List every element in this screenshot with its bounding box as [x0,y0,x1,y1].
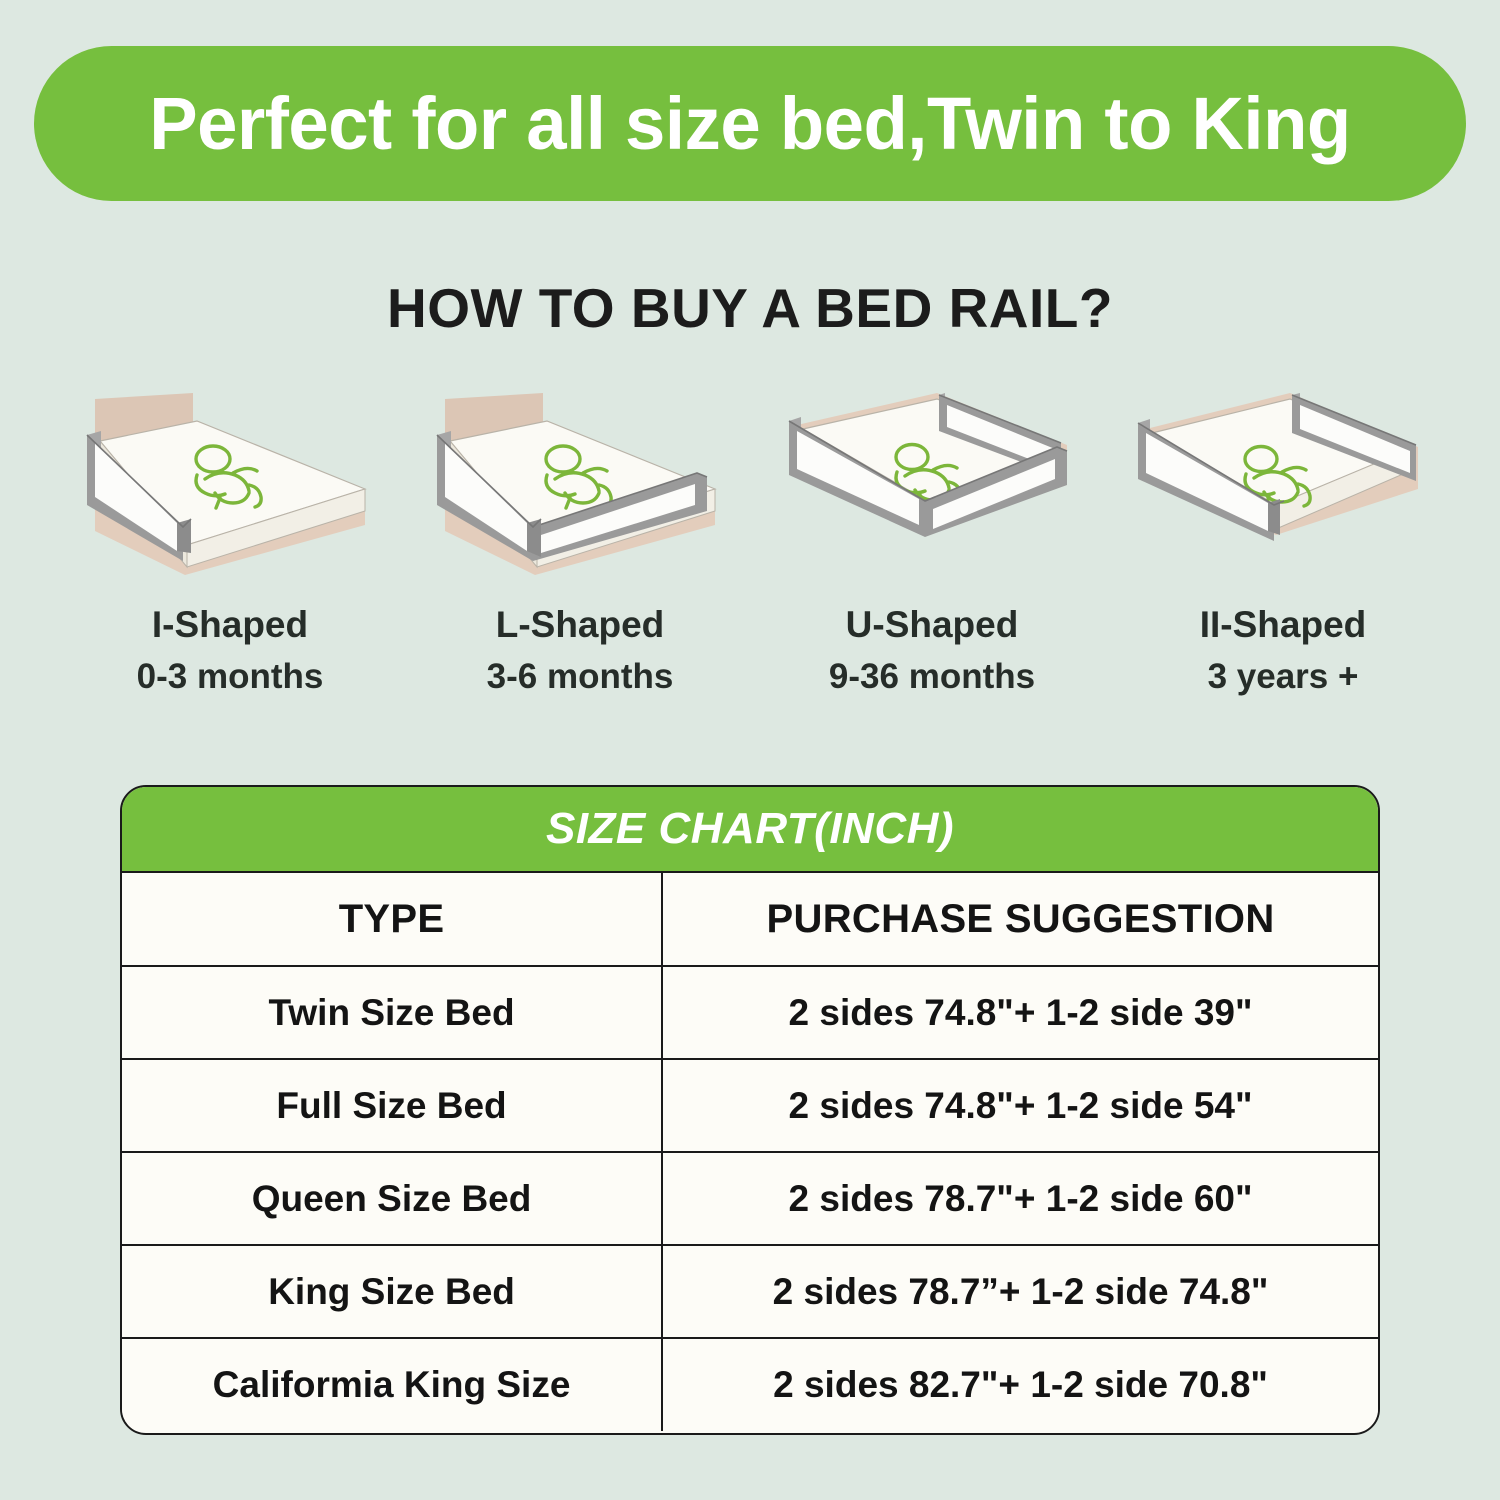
bed-type-gallery: I-Shaped 0-3 months [0,385,1500,715]
bed-type-age-label: 3 years + [1208,652,1359,702]
cell-bed-type: King Size Bed [122,1245,662,1338]
cell-purchase-suggestion: 2 sides 78.7”+ 1-2 side 74.8" [662,1245,1378,1338]
cell-bed-type: Queen Size Bed [122,1152,662,1245]
cell-bed-type: Full Size Bed [122,1059,662,1152]
cell-purchase-suggestion: 2 sides 82.7"+ 1-2 side 70.8" [662,1338,1378,1431]
cell-bed-type: Califormia King Size [122,1338,662,1431]
section-title: HOW TO BUY A BED RAIL? [0,276,1500,340]
cell-purchase-suggestion: 2 sides 78.7"+ 1-2 side 60" [662,1152,1378,1245]
bed-type-item-u: U-Shaped 9-36 months [757,385,1107,715]
bed-type-age-label: 0-3 months [137,652,324,702]
bed-type-shape-label: L-Shaped [496,599,665,652]
cell-purchase-suggestion: 2 sides 74.8"+ 1-2 side 54" [662,1059,1378,1152]
bed-type-item-l: L-Shaped 3-6 months [405,385,755,715]
table-row: Califormia King Size 2 sides 82.7"+ 1-2 … [122,1338,1378,1431]
bed-type-shape-label: I-Shaped [152,599,308,652]
bed-type-item-ii: II-Shaped 3 years + [1108,385,1458,715]
bed-rail-u-icon [767,385,1097,585]
table-row: Full Size Bed 2 sides 74.8"+ 1-2 side 54… [122,1059,1378,1152]
cell-bed-type: Twin Size Bed [122,966,662,1059]
size-chart-title: SIZE CHART(INCH) [546,804,954,854]
size-chart-card: SIZE CHART(INCH) TYPE PURCHASE SUGGESTIO… [120,785,1380,1435]
cell-purchase-suggestion: 2 sides 74.8"+ 1-2 side 39" [662,966,1378,1059]
bed-rail-i-icon [65,385,395,585]
table-row: King Size Bed 2 sides 78.7”+ 1-2 side 74… [122,1245,1378,1338]
infographic-page: Perfect for all size bed,Twin to King HO… [0,0,1500,1500]
size-chart-header: SIZE CHART(INCH) [122,787,1378,873]
bed-type-age-label: 3-6 months [487,652,674,702]
table-row: Queen Size Bed 2 sides 78.7"+ 1-2 side 6… [122,1152,1378,1245]
bed-type-age-label: 9-36 months [829,652,1035,702]
headline-banner: Perfect for all size bed,Twin to King [34,46,1466,201]
table-header-row: TYPE PURCHASE SUGGESTION [122,873,1378,966]
bed-type-shape-label: U-Shaped [846,599,1019,652]
column-header-type: TYPE [122,873,662,966]
bed-rail-l-icon [415,385,745,585]
bed-type-shape-label: II-Shaped [1200,599,1367,652]
bed-rail-ii-icon [1118,385,1448,585]
size-chart-table: TYPE PURCHASE SUGGESTION Twin Size Bed 2… [122,873,1378,1431]
table-row: Twin Size Bed 2 sides 74.8"+ 1-2 side 39… [122,966,1378,1059]
headline-text: Perfect for all size bed,Twin to King [149,81,1350,166]
bed-type-item-i: I-Shaped 0-3 months [55,385,405,715]
column-header-suggestion: PURCHASE SUGGESTION [662,873,1378,966]
